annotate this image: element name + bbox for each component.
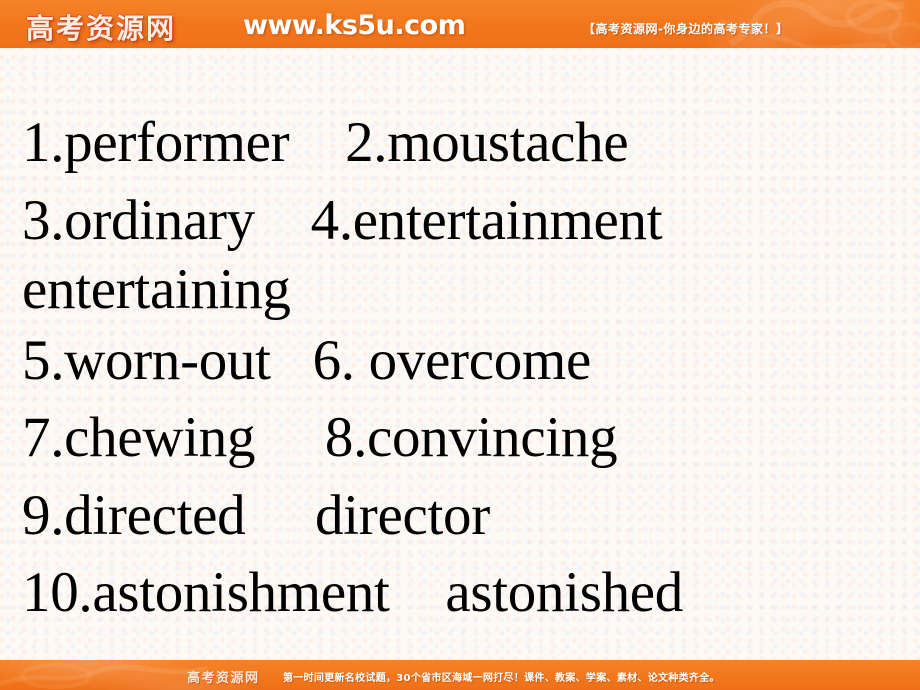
header-banner: 高考资源网 www.ks5u.com 【高考资源网-你身边的高考专家！】	[0, 0, 920, 48]
footer-banner: 高考资源网 第一时间更新名校试题，30个省市区海域一网打尽！课件、教案、学案、素…	[0, 660, 920, 690]
answer-line: 3.ordinary 4.entertainment	[22, 182, 902, 260]
answer-line-wrapped: entertaining	[22, 259, 902, 322]
footer-tagline: 第一时间更新名校试题，30个省市区海域一网打尽！课件、教案、学案、素材、论文种类…	[283, 669, 720, 684]
answer-line: 9.directed director	[22, 477, 902, 555]
site-url-text: www.ks5u.com	[243, 10, 465, 41]
answer-line: 10.astonishment astonished	[22, 554, 902, 632]
header-tagline: 【高考资源网-你身边的高考专家！】	[583, 20, 788, 37]
answer-line: 1.performer 2.moustache	[22, 104, 902, 182]
answer-line: 7.chewing 8.convincing	[22, 399, 902, 477]
footer-logo-chinese: 高考资源网	[187, 667, 260, 686]
site-logo-chinese: 高考资源网	[26, 7, 176, 47]
answer-list: 1.performer 2.moustache 3.ordinary 4.ent…	[22, 104, 902, 632]
slide-canvas: 高考资源网 www.ks5u.com 【高考资源网-你身边的高考专家！】 1.p…	[0, 0, 920, 690]
answer-line: 5.worn-out 6. overcome	[22, 322, 902, 400]
